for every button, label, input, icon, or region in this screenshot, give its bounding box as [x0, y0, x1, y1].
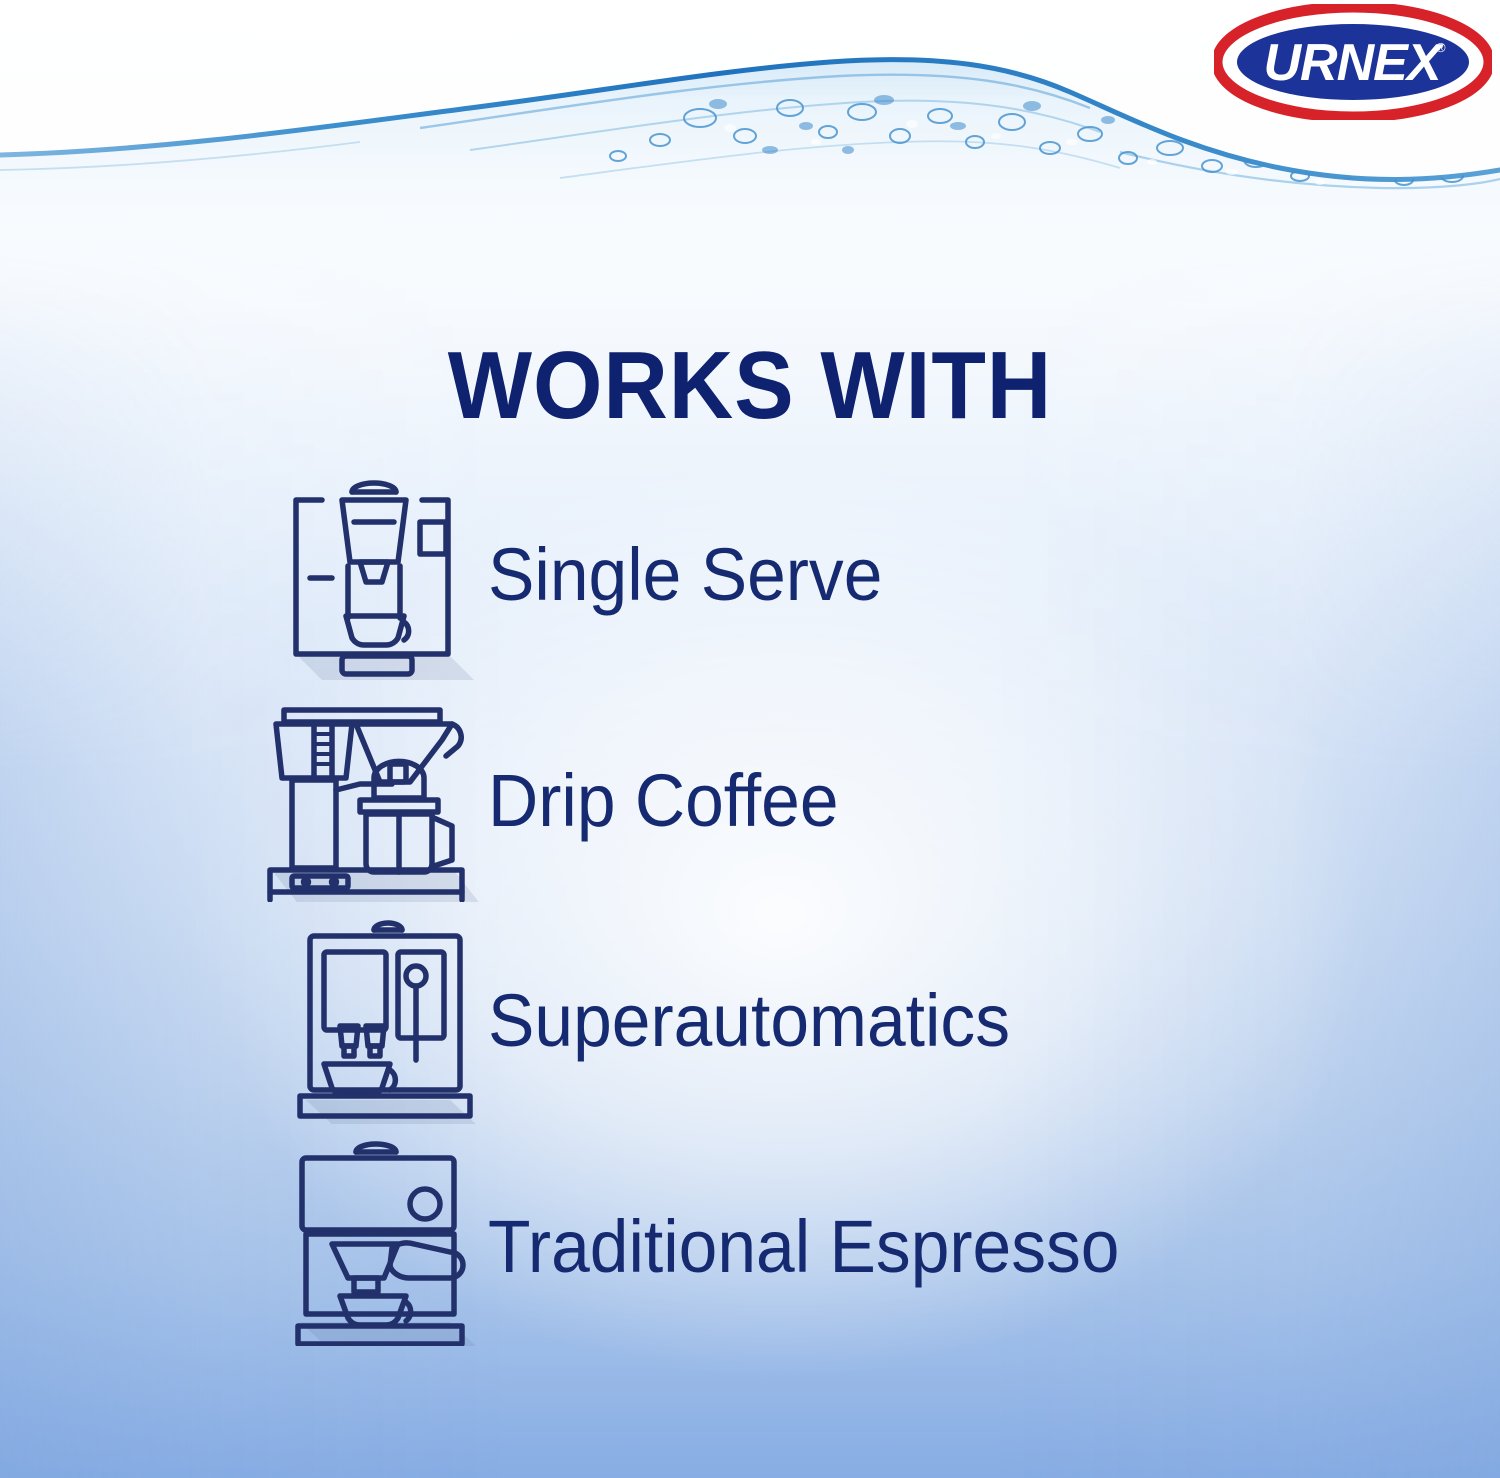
- works-with-list: Single Serve: [0, 470, 1500, 1358]
- works-with-infographic: URNEX ® WORKS WITH: [0, 0, 1500, 1478]
- logo-wordmark: URNEX: [1263, 34, 1444, 92]
- list-item-label: Superautomatics: [488, 984, 1010, 1058]
- superautomatic-machine-icon: [282, 914, 492, 1124]
- list-item-label: Traditional Espresso: [488, 1210, 1119, 1284]
- espresso-machine-icon: [280, 1136, 490, 1346]
- list-item: Traditional Espresso: [0, 1136, 1500, 1358]
- urnex-logo: URNEX ®: [1214, 4, 1492, 120]
- logo-registered-mark: ®: [1436, 40, 1446, 55]
- list-item: Superautomatics: [0, 914, 1500, 1136]
- list-item-label: Drip Coffee: [488, 764, 839, 838]
- list-item: Single Serve: [0, 470, 1500, 692]
- page-title: WORKS WITH: [53, 338, 1448, 434]
- list-item-label: Single Serve: [488, 538, 882, 612]
- list-item: Drip Coffee: [0, 692, 1500, 914]
- drip-coffee-machine-icon: [256, 692, 486, 902]
- single-serve-machine-icon: [272, 470, 482, 680]
